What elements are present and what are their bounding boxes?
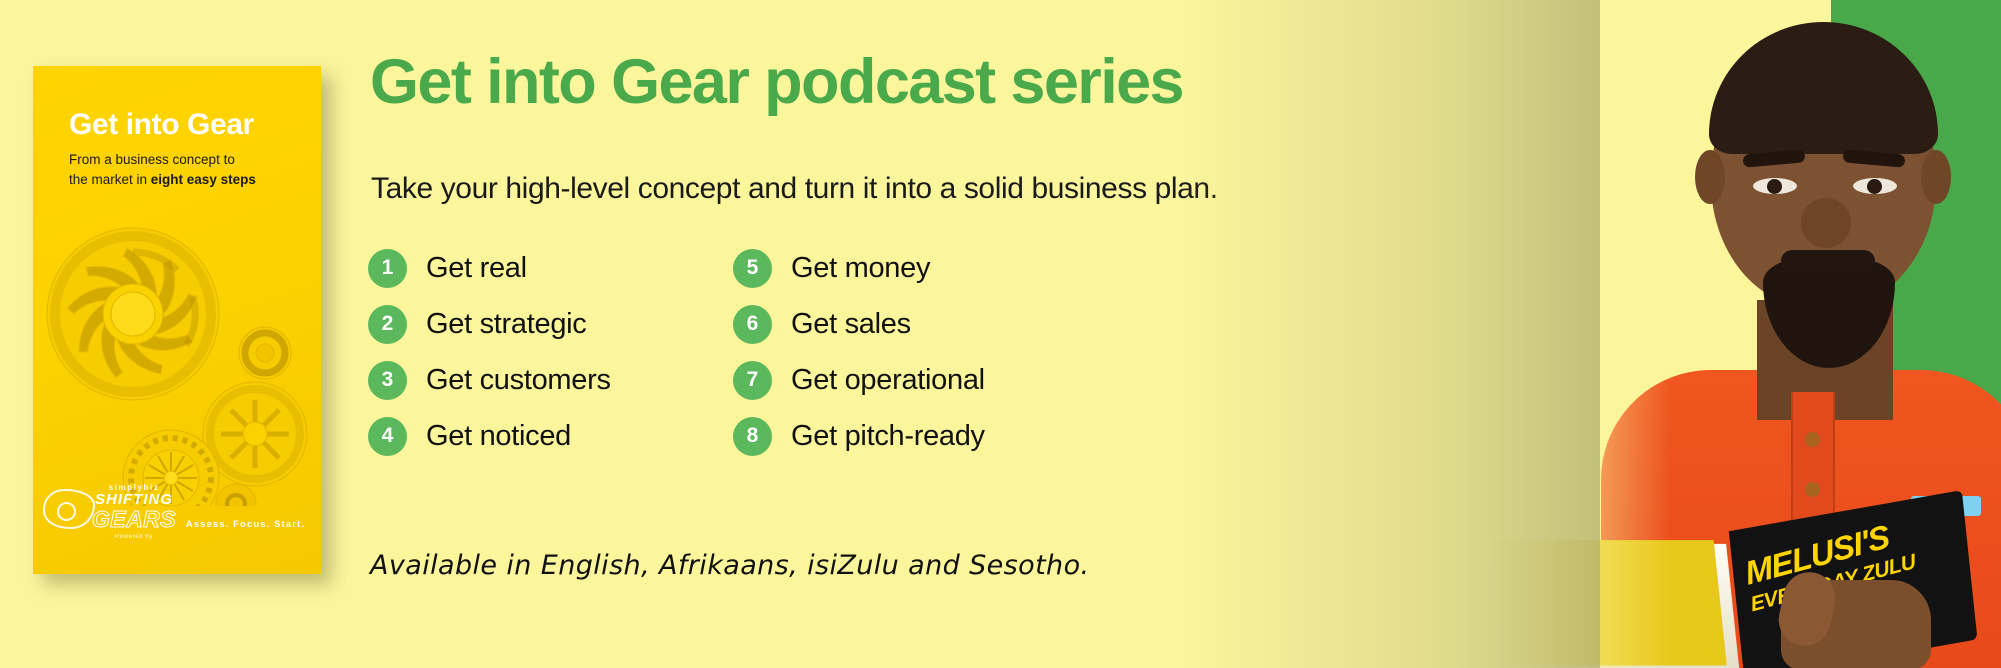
step-number-badge: 8	[733, 417, 772, 456]
list-item: 2 Get strategic	[368, 296, 611, 352]
presenter-photo: MELUSI'S EVERYDAY ZULU	[1481, 0, 2001, 668]
list-item: 3 Get customers	[368, 352, 611, 408]
gear-tiny-bottom	[216, 484, 256, 506]
page-title: Get into Gear podcast series	[370, 46, 1183, 118]
promo-banner: Get into Gear From a business concept to…	[0, 0, 2001, 668]
availability-note: Available in English, Afrikaans, isiZulu…	[370, 550, 1089, 581]
step-number-badge: 5	[733, 249, 772, 288]
step-label: Get customers	[426, 364, 611, 397]
nose	[1801, 198, 1851, 248]
list-item: 7 Get operational	[733, 352, 985, 408]
photo-left-fade	[1481, 0, 1671, 668]
book-cover-subtitle-line1: From a business concept to	[69, 152, 235, 167]
step-label: Get noticed	[426, 420, 571, 453]
step-label: Get pitch-ready	[791, 420, 985, 453]
steps-column-left: 1 Get real 2 Get strategic 3 Get custome…	[368, 240, 611, 464]
gears-illustration	[33, 216, 321, 506]
gear-large	[47, 228, 219, 400]
steps-column-right: 5 Get money 6 Get sales 7 Get operationa…	[733, 240, 985, 464]
book-cover-title: Get into Gear	[69, 108, 254, 142]
list-item: 8 Get pitch-ready	[733, 408, 985, 464]
step-number-badge: 1	[368, 249, 407, 288]
step-number-badge: 7	[733, 361, 772, 400]
list-item: 1 Get real	[368, 240, 611, 296]
list-item: 4 Get noticed	[368, 408, 611, 464]
step-label: Get sales	[791, 308, 911, 341]
step-number-badge: 3	[368, 361, 407, 400]
book-cover-tagline: Assess. Focus. Start.	[186, 519, 305, 530]
ear-right	[1921, 150, 1951, 204]
step-label: Get money	[791, 252, 930, 285]
mustache	[1781, 250, 1875, 272]
book-cover: Get into Gear From a business concept to…	[33, 66, 321, 574]
step-label: Get real	[426, 252, 527, 285]
gear-small-top-right	[239, 327, 291, 379]
step-label: Get strategic	[426, 308, 587, 341]
ear-left	[1695, 150, 1725, 204]
step-number-badge: 4	[368, 417, 407, 456]
step-number-badge: 6	[733, 305, 772, 344]
step-number-badge: 2	[368, 305, 407, 344]
logo-brand-text: simplybiz	[69, 483, 199, 492]
list-item: 5 Get money	[733, 240, 985, 296]
book-cover-front: Get into Gear From a business concept to…	[33, 66, 321, 574]
shirt-button	[1805, 432, 1820, 447]
shifting-gears-logo: simplybiz SHIFTING GEARS Powered by	[69, 483, 199, 540]
shirt-button	[1805, 482, 1820, 497]
pupil-left	[1767, 179, 1782, 194]
pupil-right	[1867, 179, 1882, 194]
book-cover-subtitle: From a business concept to the market in…	[69, 150, 284, 189]
book-cover-subtitle-line2: the market in	[69, 172, 151, 187]
gears-svg	[33, 216, 321, 506]
step-label: Get operational	[791, 364, 985, 397]
book-cover-subtitle-bold: eight easy steps	[151, 172, 256, 187]
logo-powered-text: Powered by	[69, 534, 199, 540]
page-subtitle: Take your high-level concept and turn it…	[371, 172, 1218, 206]
list-item: 6 Get sales	[733, 296, 985, 352]
